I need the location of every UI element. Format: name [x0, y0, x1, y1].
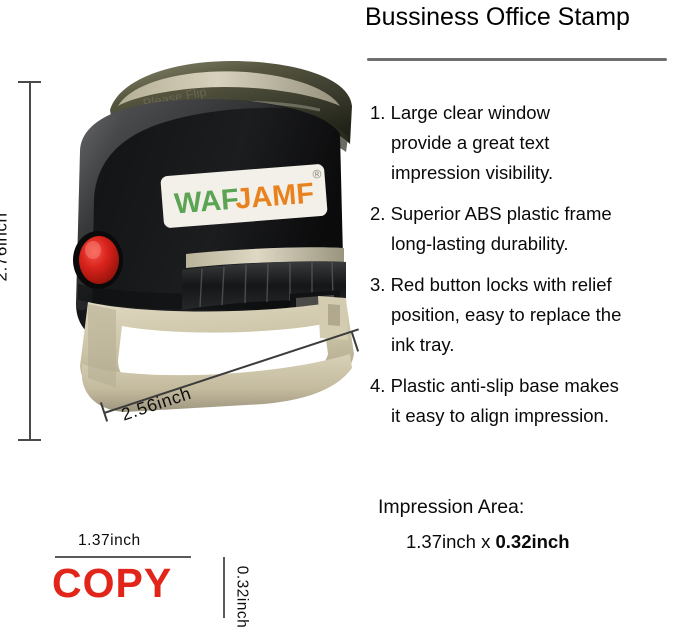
impression-height-value: 0.32inch — [495, 531, 569, 552]
feature-2-line-1: 2. Superior ABS plastic frame — [370, 199, 679, 229]
title-divider — [367, 58, 667, 61]
svg-text:WAF: WAF — [173, 183, 240, 220]
feature-2-line-2: long-lasting durability. — [370, 229, 679, 259]
feature-list: 1. Large clear window provide a great te… — [370, 98, 679, 442]
feature-1-line-2: provide a great text — [370, 128, 679, 158]
impression-sample-width-label: 1.37inch — [78, 532, 141, 550]
impression-sample-width-line — [55, 556, 191, 558]
impression-dimension-separator: x — [476, 531, 496, 552]
dimension-cap-height-top — [18, 81, 41, 83]
svg-text:JAMF: JAMF — [234, 178, 315, 216]
feature-3-line-3: ink tray. — [370, 330, 679, 360]
product-info-page: Bussiness Office Stamp — [0, 0, 679, 636]
dimension-line-height — [29, 82, 31, 440]
feature-4-line-2: it easy to align impression. — [370, 401, 679, 431]
feature-1-line-3: impression visibility. — [370, 158, 679, 188]
dimension-cap-height-bottom — [18, 439, 41, 441]
dimension-label-height: 2.76inch — [0, 212, 12, 281]
feature-item-1: 1. Large clear window provide a great te… — [370, 98, 679, 188]
impression-sample-height-line — [223, 557, 225, 618]
feature-item-2: 2. Superior ABS plastic frame long-lasti… — [370, 199, 679, 259]
feature-item-4: 4. Plastic anti-slip base makes it easy … — [370, 371, 679, 431]
impression-area-dimensions: 1.37inch x 0.32inch — [378, 522, 678, 556]
svg-text:®: ® — [312, 167, 322, 182]
impression-area-title: Impression Area: — [378, 492, 678, 522]
feature-item-3: 3. Red button locks with relief position… — [370, 270, 679, 360]
feature-3-line-2: position, easy to replace the — [370, 300, 679, 330]
feature-3-line-1: 3. Red button locks with relief — [370, 270, 679, 300]
impression-area-block: Impression Area: 1.37inch x 0.32inch — [378, 492, 678, 556]
feature-4-line-1: 4. Plastic anti-slip base makes — [370, 371, 679, 401]
stamp-impression-sample: COPY — [52, 560, 172, 607]
red-lock-button — [73, 231, 123, 289]
impression-width-value: 1.37inch — [406, 531, 476, 552]
page-title: Bussiness Office Stamp — [365, 0, 675, 34]
impression-sample-height-label: 0.32inch — [232, 566, 250, 629]
feature-1-line-1: 1. Large clear window — [370, 98, 679, 128]
